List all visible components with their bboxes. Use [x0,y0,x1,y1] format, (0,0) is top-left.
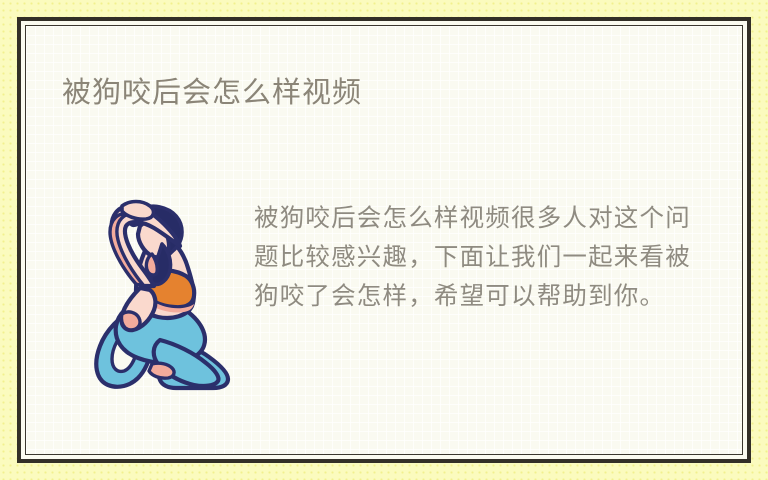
neck-shape [146,254,157,275]
hands-clasped-shape [122,202,153,220]
outer-frame-border: 被狗咬后会怎么样视频 [17,17,751,463]
hand-grabbing-foot [121,312,140,330]
page-canvas: 被狗咬后会怎么样视频 [0,0,768,480]
foot-rear-shape [149,363,174,378]
article-card: 被狗咬后会怎么样视频 [26,26,742,454]
article-body-text: 被狗咬后会怎么样视频很多人对这个问题比较感兴趣，下面让我们一起来看被狗咬了会怎样… [254,198,699,315]
yoga-pose-woman-illustration [56,188,234,400]
page-title: 被狗咬后会怎么样视频 [62,76,362,111]
inner-frame-border: 被狗咬后会怎么样视频 [25,25,743,455]
yoga-pose-woman-icon [56,188,234,400]
